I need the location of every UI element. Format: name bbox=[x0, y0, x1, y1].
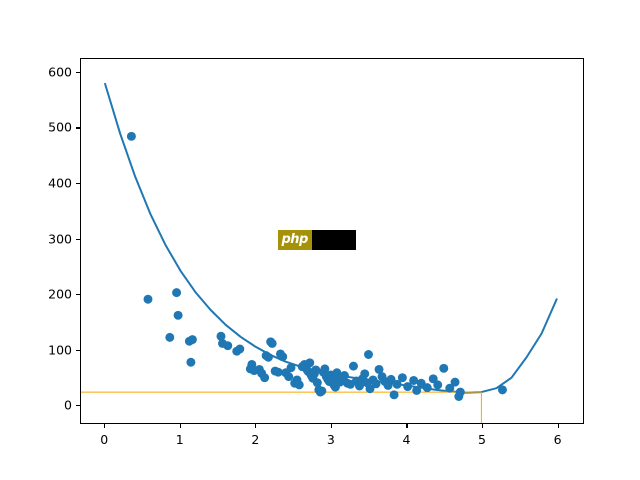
y-tick-mark bbox=[76, 127, 80, 128]
scatter-point bbox=[188, 335, 197, 344]
minimum-marker-group bbox=[81, 392, 481, 423]
y-tick-label: 100 bbox=[24, 342, 72, 357]
x-tick-label: 2 bbox=[251, 432, 259, 447]
scatter-point bbox=[364, 350, 373, 359]
scatter-point bbox=[456, 388, 465, 397]
plot-area: php bbox=[80, 58, 584, 424]
y-tick-mark bbox=[76, 405, 80, 406]
php-logo: php bbox=[278, 230, 356, 250]
scatter-point bbox=[439, 364, 448, 373]
x-tick-label: 5 bbox=[478, 432, 486, 447]
x-tick-label: 3 bbox=[327, 432, 335, 447]
y-tick-label: 200 bbox=[24, 287, 72, 302]
scatter-point bbox=[295, 380, 304, 389]
y-tick-label: 400 bbox=[24, 175, 72, 190]
x-tick-mark bbox=[558, 424, 559, 428]
matplotlib-figure: php 01002003004005006000123456 bbox=[0, 0, 640, 480]
x-tick-mark bbox=[482, 424, 483, 428]
scatter-point bbox=[390, 390, 399, 399]
y-tick-mark bbox=[76, 350, 80, 351]
x-tick-label: 4 bbox=[402, 432, 410, 447]
y-tick-mark bbox=[76, 294, 80, 295]
y-tick-mark bbox=[76, 239, 80, 240]
scatter-point bbox=[498, 385, 507, 394]
x-tick-mark bbox=[255, 424, 256, 428]
scatter-point bbox=[284, 372, 293, 381]
scatter-point bbox=[433, 380, 442, 389]
y-tick-label: 300 bbox=[24, 231, 72, 246]
php-logo-bar bbox=[312, 230, 356, 250]
scatter-point bbox=[451, 378, 460, 387]
scatter-point bbox=[165, 333, 174, 342]
scatter-point bbox=[172, 288, 181, 297]
x-tick-mark bbox=[331, 424, 332, 428]
x-tick-label: 6 bbox=[554, 432, 562, 447]
y-tick-label: 0 bbox=[24, 398, 72, 413]
x-tick-label: 0 bbox=[100, 432, 108, 447]
x-tick-mark bbox=[406, 424, 407, 428]
scatter-point bbox=[268, 339, 277, 348]
scatter-point bbox=[423, 383, 432, 392]
scatter-point bbox=[223, 341, 232, 350]
scatter-point bbox=[235, 345, 244, 354]
scatter-point bbox=[349, 362, 358, 371]
y-tick-mark bbox=[76, 72, 80, 73]
y-tick-label: 600 bbox=[24, 64, 72, 79]
scatter-points-group bbox=[127, 132, 507, 401]
y-tick-mark bbox=[76, 183, 80, 184]
scatter-point bbox=[144, 295, 153, 304]
x-tick-mark bbox=[104, 424, 105, 428]
scatter-point bbox=[260, 373, 269, 382]
scatter-point bbox=[186, 358, 195, 367]
scatter-point bbox=[305, 358, 314, 367]
scatter-point bbox=[264, 353, 273, 362]
scatter-point bbox=[317, 386, 326, 395]
x-tick-mark bbox=[180, 424, 181, 428]
scatter-point bbox=[360, 369, 369, 378]
scatter-point bbox=[127, 132, 136, 141]
x-tick-label: 1 bbox=[176, 432, 184, 447]
scatter-point bbox=[311, 365, 320, 374]
scatter-point bbox=[398, 373, 407, 382]
scatter-point bbox=[278, 352, 287, 361]
scatter-point bbox=[372, 379, 381, 388]
php-logo-label: php bbox=[282, 230, 308, 250]
scatter-point bbox=[174, 311, 183, 320]
scatter-point bbox=[287, 363, 296, 372]
scatter-point bbox=[340, 371, 349, 380]
php-logo-badge: php bbox=[278, 230, 312, 250]
y-tick-label: 500 bbox=[24, 120, 72, 135]
